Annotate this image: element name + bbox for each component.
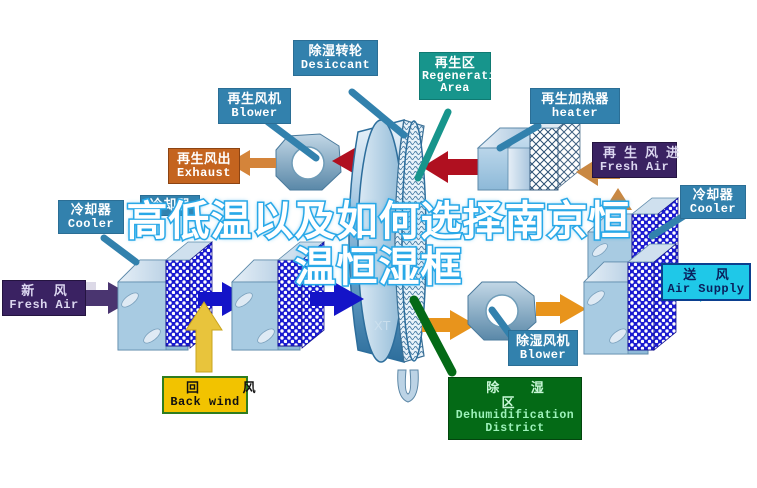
svg-text:XT: XT [374,318,391,333]
label-exhaust-cn: 再生风出 [171,152,237,167]
label-regen-fresh-air-en: Fresh Air [595,161,674,174]
label-regen-area-en: Regeneration Area [422,71,488,97]
label-dehum-blower[interactable]: 除湿风机 Blower [508,330,578,366]
wheel-support-foot [398,370,419,402]
label-regen-fresh-air[interactable]: 再生风进 Fresh Air [592,142,677,178]
label-desiccant-en: Desiccant [296,59,375,72]
label-regen-blower-cn: 再生风机 [221,92,288,107]
label-desiccant[interactable]: 除湿转轮 Desiccant [293,40,378,76]
label-regen-heater-en: heater [533,107,617,120]
overlay-title-line2: 温恒湿框 [0,244,757,290]
label-dehum-blower-en: Blower [511,349,575,362]
label-fresh-air-en: Fresh Air [5,299,83,312]
regen-blower-unit [276,134,341,190]
label-regen-area[interactable]: 再生区 Regeneration Area [419,52,491,100]
label-regen-blower[interactable]: 再生风机 Blower [218,88,291,124]
label-desiccant-cn: 除湿转轮 [296,44,375,59]
label-dehum-blower-cn: 除湿风机 [511,334,575,349]
label-regen-heater[interactable]: 再生加热器 heater [530,88,620,124]
label-dehum-district[interactable]: 除 湿 区 Dehumidification District [448,377,582,440]
label-back-wind[interactable]: 回 风 Back wind [162,376,248,414]
label-regen-fresh-air-cn: 再生风进 [595,146,674,161]
label-exhaust-en: Exhaust [171,167,237,180]
label-exhaust[interactable]: 再生风出 Exhaust [168,148,240,184]
label-back-wind-cn: 回 风 [166,381,244,396]
diagram-canvas: XT sc [0,0,757,488]
label-dehum-district-en: Dehumidification District [451,410,579,436]
overlay-title-line1: 高低温以及如何选择南京恒 [0,198,757,244]
label-back-wind-en: Back wind [166,396,244,409]
label-regen-heater-cn: 再生加热器 [533,92,617,107]
label-dehum-district-cn: 除 湿 区 [451,381,579,410]
arrow-dry-out-2 [536,294,586,324]
label-regen-area-cn: 再生区 [422,56,488,71]
label-regen-blower-en: Blower [221,107,288,120]
overlay-title: 高低温以及如何选择南京恒 温恒湿框 [0,198,757,290]
